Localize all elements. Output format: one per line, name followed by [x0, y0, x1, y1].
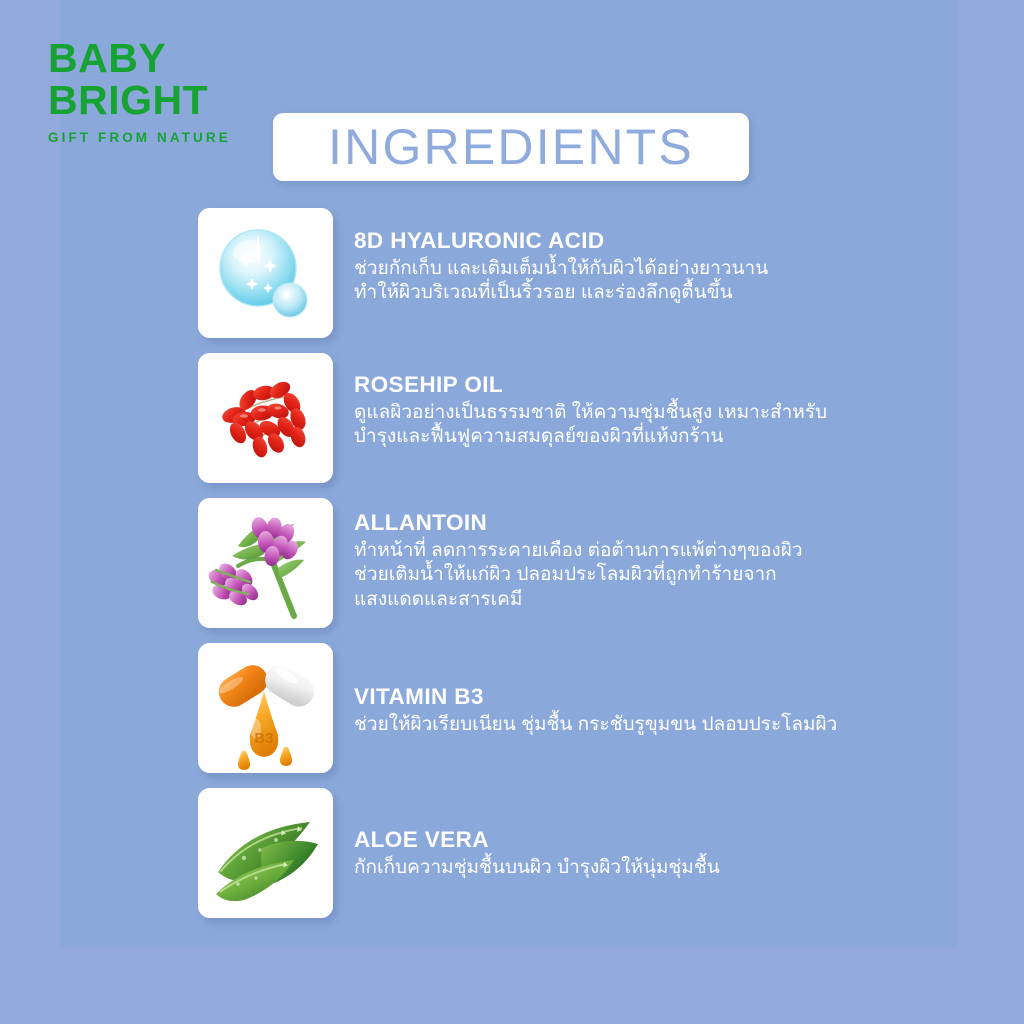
ingredient-desc-line: แสงแดดและสารเคมี — [354, 588, 914, 613]
ingredient-desc-line: ช่วยกักเก็บ และเติมเต็มน้ำให้กับผิวได้อย… — [354, 257, 914, 282]
ingredient-desc-line: ทำหน้าที่ ลดการระคายเคือง ต่อต้านการแพ้ต… — [354, 539, 914, 564]
list-item: 8D HYALURONIC ACID ช่วยกักเก็บ และเติมเต… — [0, 208, 1024, 353]
ingredient-text: 8D HYALURONIC ACID ช่วยกักเก็บ และเติมเต… — [354, 229, 914, 306]
brand-name-line2: BRIGHT — [48, 80, 231, 122]
ingredient-title: ROSEHIP OIL — [354, 373, 914, 397]
svg-text:B3: B3 — [254, 730, 273, 747]
ingredient-desc-line: ช่วยให้ผิวเรียบเนียน ชุ่มชื้น กระชับรูขุ… — [354, 713, 914, 738]
brand-name-line1: BABY — [48, 38, 231, 80]
ingredient-thumbnail — [198, 498, 333, 628]
brand-logo: BABY BRIGHT GIFT FROM NATURE — [48, 38, 231, 144]
capsule-droplet-icon: B3 — [198, 643, 333, 773]
brand-tagline: GIFT FROM NATURE — [48, 131, 231, 145]
list-item: ALOE VERA กักเก็บความชุ่มชื้นบนผิว บำรุง… — [0, 788, 1024, 933]
ingredient-text: ALOE VERA กักเก็บความชุ่มชื้นบนผิว บำรุง… — [354, 828, 914, 880]
ingredient-thumbnail — [198, 353, 333, 483]
rosehip-berries-icon — [198, 353, 333, 483]
ingredient-desc-line: ช่วยเติมน้ำให้แก่ผิว ปลอมประโลมผิวที่ถูก… — [354, 563, 914, 588]
list-item: ROSEHIP OIL ดูแลผิวอย่างเป็นธรรมชาติ ให้… — [0, 353, 1024, 498]
ingredients-list: 8D HYALURONIC ACID ช่วยกักเก็บ และเติมเต… — [0, 208, 1024, 933]
ingredient-thumbnail — [198, 788, 333, 918]
aloe-vera-leaves-icon — [198, 788, 333, 918]
list-item: B3 VITAMIN B3 ช่วยให้ผิวเรียบเนียน ชุ่มช… — [0, 643, 1024, 788]
list-item: ALLANTOIN ทำหน้าที่ ลดการระคายเคือง ต่อต… — [0, 498, 1024, 643]
ingredient-thumbnail — [198, 208, 333, 338]
ingredient-thumbnail: B3 — [198, 643, 333, 773]
page-title: INGREDIENTS — [328, 122, 694, 172]
ingredient-desc-line: บำรุงและฟื้นฟูความสมดุลย์ของผิวที่แห้งกร… — [354, 425, 914, 450]
water-droplet-icon — [198, 208, 333, 338]
ingredient-title: ALOE VERA — [354, 828, 914, 852]
ingredient-title: ALLANTOIN — [354, 511, 914, 535]
comfrey-flower-icon — [198, 498, 333, 628]
ingredient-desc-line: ดูแลผิวอย่างเป็นธรรมชาติ ให้ความชุ่มชื้น… — [354, 401, 914, 426]
ingredient-desc-line: ทำให้ผิวบริเวณที่เป็นริ้วรอย และร่องลึกด… — [354, 281, 914, 306]
page-title-banner: INGREDIENTS — [273, 113, 749, 181]
ingredient-text: VITAMIN B3 ช่วยให้ผิวเรียบเนียน ชุ่มชื้น… — [354, 685, 914, 737]
ingredient-title: 8D HYALURONIC ACID — [354, 229, 914, 253]
ingredient-desc-line: กักเก็บความชุ่มชื้นบนผิว บำรุงผิวให้นุ่ม… — [354, 856, 914, 881]
ingredient-title: VITAMIN B3 — [354, 685, 914, 709]
ingredient-text: ALLANTOIN ทำหน้าที่ ลดการระคายเคือง ต่อต… — [354, 511, 914, 613]
ingredient-text: ROSEHIP OIL ดูแลผิวอย่างเป็นธรรมชาติ ให้… — [354, 373, 914, 450]
